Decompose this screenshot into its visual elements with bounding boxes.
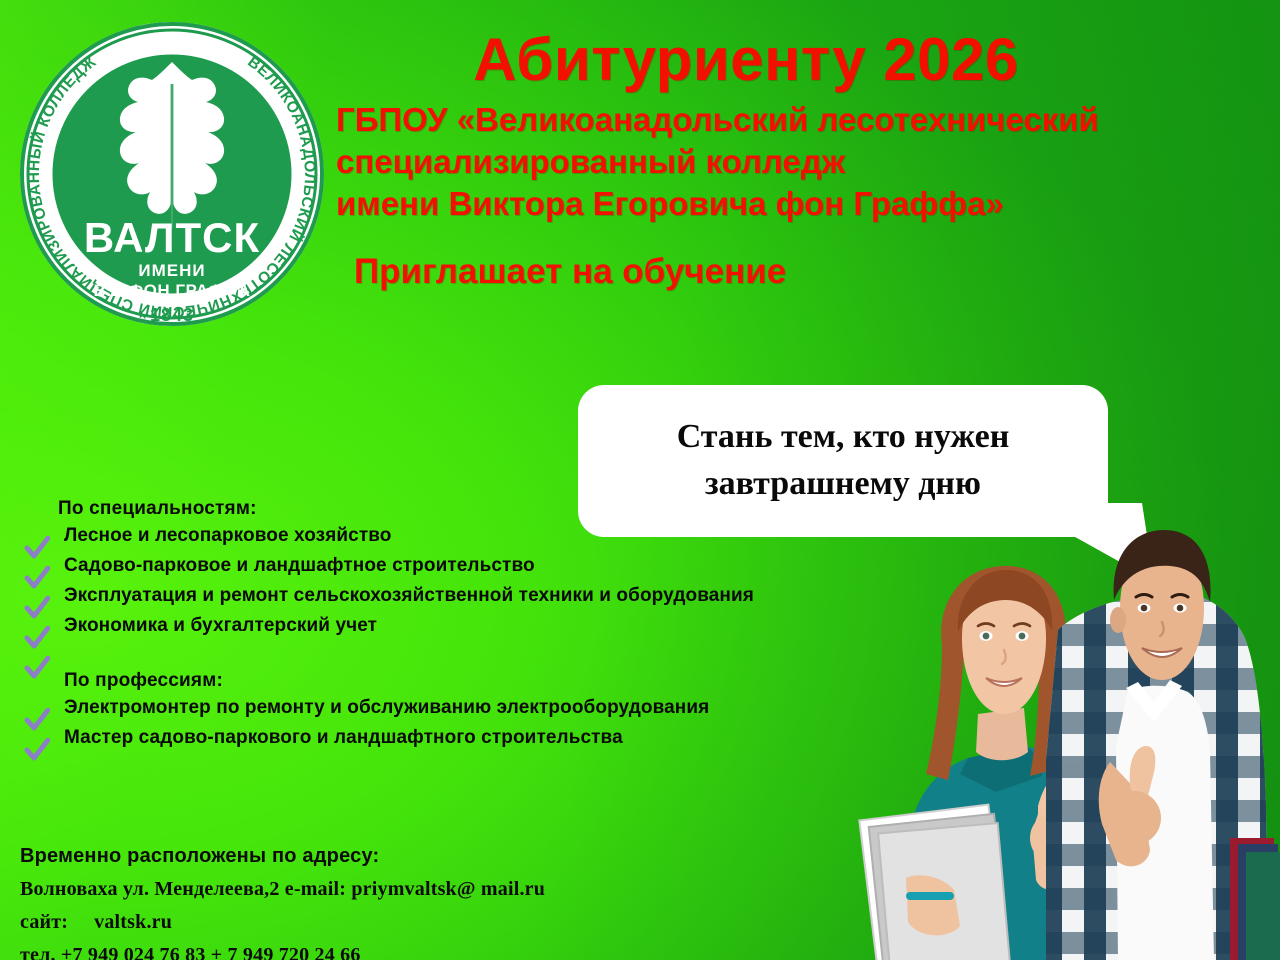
- website-label: сайт:: [20, 911, 68, 933]
- professions-section: По профессиям: Электромонтер по ремонту …: [20, 670, 900, 758]
- college-logo: ВЕЛИКОАНАДОЛЬСКИЙ ЛЕСОТЕХНИЧЕСКИЙ СПЕЦИА…: [12, 14, 332, 334]
- list-item: Электромонтер по ремонту и обслуживанию …: [64, 698, 900, 717]
- list-item-label: Садово-парковое и ландшафтное строительс…: [64, 555, 535, 576]
- speech-bubble-line-1: Стань тем, кто нужен: [677, 414, 1010, 461]
- website-row: сайт:valtsk.ru: [20, 912, 740, 932]
- list-item-label: Мастер садово-паркового и ландшафтного с…: [64, 727, 623, 748]
- list-item: Мастер садово-паркового и ландшафтного с…: [64, 728, 900, 747]
- website-value[interactable]: valtsk.ru: [94, 911, 172, 933]
- check-icon: [24, 596, 50, 622]
- list-item-label: Электромонтер по ремонту и обслуживанию …: [64, 697, 709, 718]
- list-item: Экономика и бухгалтерский учет: [64, 616, 920, 635]
- list-item: Лесное и лесопарковое хозяйство: [64, 526, 920, 545]
- invitation-text: Приглашает на обучение: [354, 252, 1266, 292]
- check-icon: [24, 738, 50, 764]
- professions-heading: По профессиям:: [64, 670, 900, 692]
- address-and-email: Волноваха ул. Менделеева,2 e-mail: priym…: [20, 879, 740, 899]
- list-item: Эксплуатация и ремонт сельскохозяйственн…: [64, 586, 920, 605]
- books-icon: [859, 805, 1010, 960]
- list-item-label: Эксплуатация и ремонт сельскохозяйственн…: [64, 585, 754, 606]
- poster-root: ВЕЛИКОАНАДОЛЬСКИЙ ЛЕСОТЕХНИЧЕСКИЙ СПЕЦИА…: [0, 0, 1280, 960]
- list-item: Садово-парковое и ландшафтное строительс…: [64, 556, 920, 575]
- logo-year: 1843: [150, 305, 194, 325]
- org-name-line-3: имени Виктора Егоровича фон Граффа»: [336, 183, 1266, 225]
- headline-block: Абитуриенту 2026 ГБПОУ «Великоанадольски…: [336, 28, 1266, 292]
- list-item-label: Лесное и лесопарковое хозяйство: [64, 525, 391, 546]
- check-icon: [24, 536, 50, 562]
- org-name-line-2: специализированный колледж: [336, 141, 1266, 183]
- logo-abbreviation: ВАЛТСК: [84, 214, 260, 261]
- logo-person: В.Е.ФОН ГРАФФА: [94, 281, 251, 300]
- contacts-section: Временно расположены по адресу: Волновах…: [20, 846, 740, 960]
- specialties-section: По специальностям: Лесное и лесопарковое…: [20, 498, 920, 646]
- phone-numbers: тел. +7 949 024 76 83 + 7 949 720 24 66: [20, 945, 740, 960]
- logo-imeni: ИМЕНИ: [138, 261, 205, 280]
- check-icon: [24, 566, 50, 592]
- notebooks-icon: [1230, 838, 1280, 960]
- check-icon: [24, 708, 50, 734]
- specialties-heading: По специальностям:: [58, 498, 920, 520]
- address-label: Временно расположены по адресу:: [20, 846, 740, 866]
- list-item-label: Экономика и бухгалтерский учет: [64, 615, 377, 636]
- check-icon: [24, 626, 50, 652]
- page-title: Абитуриенту 2026: [336, 28, 1266, 91]
- org-name-line-1: ГБПОУ «Великоанадольский лесотехнический: [336, 99, 1266, 141]
